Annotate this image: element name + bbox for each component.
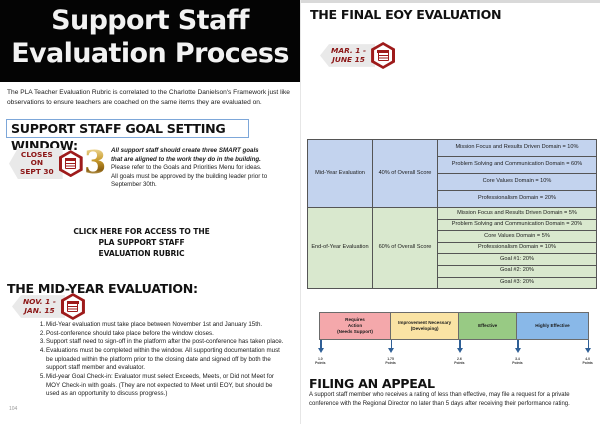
- document-spread: Support Staff Evaluation Process The PLA…: [0, 0, 600, 424]
- rubric-link[interactable]: CLICK HERE FOR ACCESS TO THE PLA SUPPORT…: [34, 226, 249, 259]
- midyear-date-line-2: JAN. 15: [23, 307, 56, 315]
- midyear-evaluation-list: Mid-Year evaluation must take place betw…: [38, 321, 286, 399]
- scale-tick-label: 1.0Points: [315, 357, 325, 366]
- domain-weight-cell: Problem Solving and Communication Domain…: [438, 157, 597, 174]
- eoy-date-line-2: JUNE 15: [331, 56, 366, 64]
- scale-tick-unit: Points: [454, 361, 464, 365]
- rating-scale-segment: Highly Effective: [517, 313, 588, 339]
- rating-scale-segment-label: Effective: [478, 323, 497, 329]
- domain-weight-cell: Goal #2: 20%: [438, 265, 597, 277]
- eoy-evaluation-heading: THE FINAL EOY EVALUATION: [310, 7, 501, 22]
- left-page: Support Staff Evaluation Process The PLA…: [0, 0, 300, 424]
- rating-scale-ticks: 1.0Points1.75Points2.6Points3.4Points4.0…: [319, 340, 589, 354]
- goal-window-date-badge: CLOSES ON SEPT 30: [9, 148, 83, 179]
- eval-weight-label: 60% of Overall Score: [373, 208, 438, 289]
- page-number-left: 104: [9, 406, 17, 412]
- rubric-link-line-1: CLICK HERE FOR ACCESS TO THE: [34, 226, 249, 237]
- eoy-date-ribbon: MAR. 1 - JUNE 15: [320, 44, 375, 67]
- list-item: Mid-Year evaluation must take place betw…: [38, 321, 286, 330]
- filing-appeal-heading: FILING AN APPEAL: [309, 376, 435, 391]
- calendar-hexagon-inner: [374, 45, 392, 66]
- rating-scale-segment-label: (Needs Support): [337, 329, 373, 335]
- domain-weight-cell: Goal #3: 20%: [438, 277, 597, 289]
- page-title: Support Staff Evaluation Process: [0, 4, 300, 70]
- scale-tick-label: 2.6Points: [454, 357, 464, 366]
- scale-tick-unit: Points: [315, 361, 325, 365]
- domain-weight-cell: Problem Solving and Communication Domain…: [438, 219, 597, 231]
- rating-scale-segment-label: (Developing): [411, 326, 439, 332]
- domain-weight-cell: Professionalism Domain = 10%: [438, 242, 597, 254]
- eoy-date-badge: MAR. 1 - JUNE 15: [320, 42, 395, 69]
- eval-weight-label: 40% of Overall Score: [373, 140, 438, 208]
- rating-scale: RequiresAction(Needs Support)Improvement…: [319, 312, 589, 354]
- filing-appeal-paragraph: A support staff member who receives a ra…: [309, 391, 593, 409]
- scale-tick-unit: Points: [512, 361, 522, 365]
- list-item: Support staff need to sign-off in the pl…: [38, 338, 286, 347]
- domain-weight-cell: Core Values Domain = 10%: [438, 174, 597, 191]
- scale-tick-label: 4.0Points: [582, 357, 592, 366]
- midyear-date-badge: NOV. 1 - JAN. 15: [12, 293, 85, 320]
- scale-tick-unit: Points: [385, 361, 395, 365]
- right-page: THE FINAL EOY EVALUATION MAR. 1 - JUNE 1…: [300, 0, 600, 424]
- domain-weight-cell: Goal #1: 20%: [438, 254, 597, 266]
- scale-tick-arrow-icon: [588, 340, 590, 350]
- goal-setting-window-heading-box: SUPPORT STAFF GOAL SETTING WINDOW:: [6, 119, 249, 138]
- intro-paragraph: The PLA Teacher Evaluation Rubric is cor…: [7, 88, 295, 108]
- goal-count-number: 3: [84, 146, 106, 178]
- calendar-hexagon-inner: [64, 296, 82, 317]
- midyear-date-ribbon: NOV. 1 - JAN. 15: [12, 295, 65, 318]
- domain-weight-cell: Mission Focus and Results Driven Domain …: [438, 208, 597, 220]
- rating-scale-segment-label: Highly Effective: [535, 323, 569, 329]
- scale-tick-label: 1.75Points: [385, 357, 395, 366]
- eval-period-label: End-of-Year Evaluation: [308, 208, 373, 289]
- evaluation-weighting-table: Mid-Year Evaluation40% of Overall ScoreM…: [307, 139, 597, 289]
- table-row: Mid-Year Evaluation40% of Overall ScoreM…: [308, 140, 597, 157]
- rating-scale-segment: Effective: [459, 313, 517, 339]
- scale-tick-unit: Points: [582, 361, 592, 365]
- list-item: Evaluations must be completed within the…: [38, 347, 286, 373]
- calendar-hexagon-inner: [62, 153, 80, 174]
- goal-window-paragraph: All support staff should create three SM…: [111, 147, 269, 190]
- domain-weight-cell: Core Values Domain = 5%: [438, 231, 597, 243]
- page-title-line-1: Support Staff: [0, 4, 300, 37]
- eval-period-label: Mid-Year Evaluation: [308, 140, 373, 208]
- table-row: End-of-Year Evaluation60% of Overall Sco…: [308, 208, 597, 220]
- domain-weight-cell: Professionalism Domain = 20%: [438, 191, 597, 208]
- scale-tick-arrow-icon: [391, 340, 393, 350]
- goal-window-paragraph-bold: All support staff should create three SM…: [111, 147, 261, 163]
- page-title-line-2: Evaluation Process: [0, 37, 300, 70]
- rating-scale-segment: RequiresAction(Needs Support): [320, 313, 391, 339]
- rating-scale-bar: RequiresAction(Needs Support)Improvement…: [319, 312, 589, 340]
- calendar-icon: [65, 159, 76, 169]
- goal-window-paragraph-rest: Please refer to the Goals and Priorities…: [111, 164, 267, 188]
- rubric-link-line-2: PLA SUPPORT STAFF: [34, 237, 249, 248]
- rubric-link-line-3: EVALUATION RUBRIC: [34, 248, 249, 259]
- list-item: Post-conference should take place before…: [38, 330, 286, 339]
- list-item: Mid-year Goal Check-in: Evaluator must s…: [38, 373, 286, 399]
- scale-tick-arrow-icon: [459, 340, 461, 350]
- calendar-icon: [378, 51, 389, 61]
- scale-tick-arrow-icon: [517, 340, 519, 350]
- goal-window-date-ribbon: CLOSES ON SEPT 30: [9, 148, 63, 179]
- scale-tick-label: 3.4Points: [512, 357, 522, 366]
- rating-scale-segment: Improvement Necessary(Developing): [391, 313, 459, 339]
- calendar-icon: [67, 302, 78, 312]
- goal-window-date-line-3: SEPT 30: [20, 168, 54, 176]
- domain-weight-cell: Mission Focus and Results Driven Domain …: [438, 140, 597, 157]
- scale-tick-arrow-icon: [320, 340, 322, 350]
